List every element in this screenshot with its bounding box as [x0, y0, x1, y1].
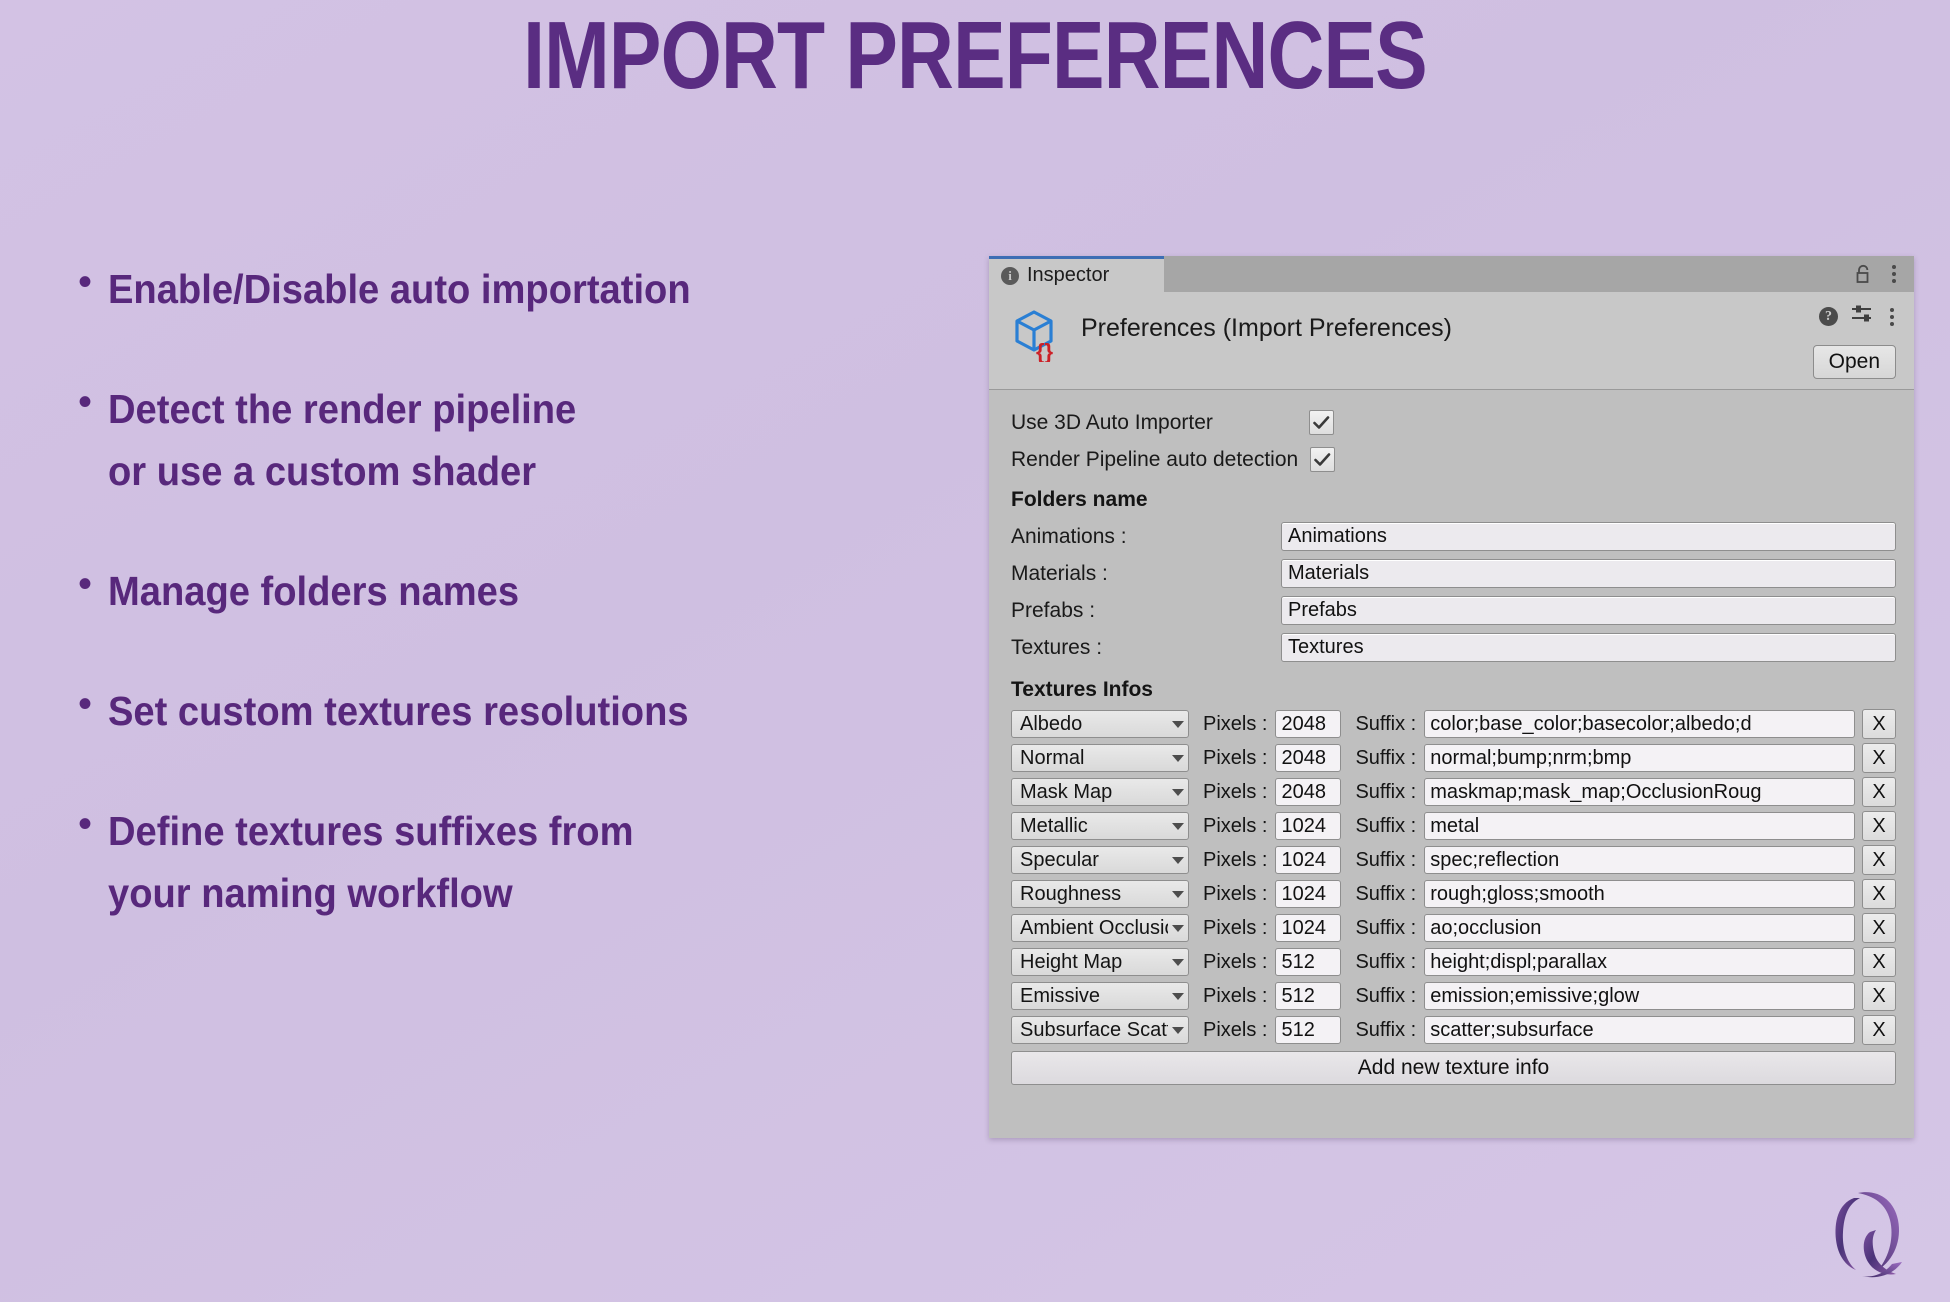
- tab-bar-actions: [1855, 256, 1914, 292]
- suffix-label: Suffix :: [1341, 1019, 1424, 1042]
- texture-type-label: Specular: [1020, 849, 1168, 872]
- pixels-label: Pixels :: [1189, 883, 1275, 906]
- kebab-menu-icon[interactable]: [1888, 263, 1900, 285]
- toggle-row-use-3d-auto-importer: Use 3D Auto Importer: [1011, 404, 1896, 441]
- suffix-label: Suffix :: [1341, 781, 1424, 804]
- bullet-text: Define textures suffixes from your namin…: [108, 800, 634, 924]
- pixels-label: Pixels :: [1189, 849, 1275, 872]
- bullet-text: Manage folders names: [108, 560, 519, 622]
- animations-folder-input[interactable]: Animations: [1281, 522, 1896, 551]
- texture-info-row: SpecularPixels :1024Suffix :spec;reflect…: [1011, 844, 1896, 876]
- pixels-label: Pixels :: [1189, 1019, 1275, 1042]
- toggle-label: Render Pipeline auto detection: [1011, 448, 1298, 472]
- texture-type-dropdown[interactable]: Ambient Occlusion: [1011, 914, 1189, 942]
- lock-icon[interactable]: [1855, 264, 1872, 284]
- tab-label: Inspector: [1027, 264, 1109, 287]
- texture-info-row: Height MapPixels :512Suffix :height;disp…: [1011, 946, 1896, 978]
- bullet-list: • Enable/Disable auto importation • Dete…: [78, 258, 958, 982]
- page-title: IMPORT PREFERENCES: [176, 6, 1775, 107]
- suffix-label: Suffix :: [1341, 815, 1424, 838]
- bullet-dot-icon: •: [78, 256, 92, 308]
- pixels-label: Pixels :: [1189, 713, 1275, 736]
- pixels-input[interactable]: 512: [1275, 982, 1341, 1010]
- use-3d-auto-importer-checkbox[interactable]: [1309, 410, 1334, 435]
- texture-type-label: Emissive: [1020, 985, 1168, 1008]
- texture-type-dropdown[interactable]: Emissive: [1011, 982, 1189, 1010]
- bullet-text: Set custom textures resolutions: [108, 680, 689, 742]
- bullet-text: Detect the render pipeline or use a cust…: [108, 378, 576, 502]
- add-new-texture-info-button[interactable]: Add new texture info: [1011, 1051, 1896, 1085]
- scriptable-object-icon: {}: [1009, 306, 1063, 362]
- toggle-label: Use 3D Auto Importer: [1011, 411, 1213, 435]
- texture-info-row: Ambient OcclusionPixels :1024Suffix :ao;…: [1011, 912, 1896, 944]
- pixels-input[interactable]: 1024: [1275, 812, 1341, 840]
- suffix-input[interactable]: metal: [1424, 812, 1855, 840]
- pixels-input[interactable]: 512: [1275, 1016, 1341, 1044]
- inspector-tab-bar: i Inspector: [989, 256, 1914, 292]
- remove-texture-info-button[interactable]: X: [1862, 947, 1896, 977]
- pixels-input[interactable]: 2048: [1275, 744, 1341, 772]
- pixels-label: Pixels :: [1189, 747, 1275, 770]
- suffix-label: Suffix :: [1341, 883, 1424, 906]
- suffix-input[interactable]: scatter;subsurface: [1424, 1016, 1855, 1044]
- texture-info-row: NormalPixels :2048Suffix :normal;bump;nr…: [1011, 742, 1896, 774]
- texture-type-dropdown[interactable]: Albedo: [1011, 710, 1189, 738]
- info-icon: i: [1001, 267, 1019, 285]
- chevron-down-icon: [1172, 789, 1184, 796]
- chevron-down-icon: [1172, 925, 1184, 932]
- pixels-input[interactable]: 1024: [1275, 846, 1341, 874]
- suffix-label: Suffix :: [1341, 951, 1424, 974]
- textures-infos-heading: Textures Infos: [1011, 678, 1896, 702]
- texture-type-dropdown[interactable]: Subsurface Scattering: [1011, 1016, 1189, 1044]
- pixels-input[interactable]: 2048: [1275, 710, 1341, 738]
- pixels-input[interactable]: 512: [1275, 948, 1341, 976]
- list-item: • Enable/Disable auto importation: [78, 258, 958, 320]
- field-label: Animations :: [1011, 525, 1281, 549]
- suffix-input[interactable]: rough;gloss;smooth: [1424, 880, 1855, 908]
- field-label: Prefabs :: [1011, 599, 1281, 623]
- suffix-input[interactable]: color;base_color;basecolor;albedo;d: [1424, 710, 1855, 738]
- texture-type-label: Mask Map: [1020, 781, 1168, 804]
- materials-folder-input[interactable]: Materials: [1281, 559, 1896, 588]
- suffix-label: Suffix :: [1341, 917, 1424, 940]
- remove-texture-info-button[interactable]: X: [1862, 811, 1896, 841]
- help-icon[interactable]: ?: [1819, 307, 1838, 326]
- suffix-input[interactable]: emission;emissive;glow: [1424, 982, 1855, 1010]
- list-item: • Manage folders names: [78, 560, 958, 622]
- list-item: • Set custom textures resolutions: [78, 680, 958, 742]
- texture-type-label: Albedo: [1020, 713, 1168, 736]
- texture-type-label: Height Map: [1020, 951, 1168, 974]
- suffix-input[interactable]: maskmap;mask_map;OcclusionRoug: [1424, 778, 1855, 806]
- texture-type-dropdown[interactable]: Roughness: [1011, 880, 1189, 908]
- inspector-body: Use 3D Auto Importer Render Pipeline aut…: [989, 390, 1914, 1085]
- texture-type-dropdown[interactable]: Metallic: [1011, 812, 1189, 840]
- folder-row-materials: Materials : Materials: [1011, 555, 1896, 592]
- chevron-down-icon: [1172, 721, 1184, 728]
- chevron-down-icon: [1172, 823, 1184, 830]
- texture-type-dropdown[interactable]: Specular: [1011, 846, 1189, 874]
- remove-texture-info-button[interactable]: X: [1862, 845, 1896, 875]
- tab-inspector[interactable]: i Inspector: [989, 256, 1164, 292]
- pixels-label: Pixels :: [1189, 781, 1275, 804]
- render-pipeline-auto-detection-checkbox[interactable]: [1310, 447, 1335, 472]
- texture-info-row: EmissivePixels :512Suffix :emission;emis…: [1011, 980, 1896, 1012]
- field-label: Textures :: [1011, 636, 1281, 660]
- pixels-label: Pixels :: [1189, 985, 1275, 1008]
- chevron-down-icon: [1172, 1027, 1184, 1034]
- folder-row-prefabs: Prefabs : Prefabs: [1011, 592, 1896, 629]
- list-item: • Define textures suffixes from your nam…: [78, 800, 958, 924]
- toggle-row-render-pipeline-auto-detection: Render Pipeline auto detection: [1011, 441, 1896, 478]
- pixels-label: Pixels :: [1189, 951, 1275, 974]
- chevron-down-icon: [1172, 959, 1184, 966]
- remove-texture-info-button[interactable]: X: [1862, 913, 1896, 943]
- texture-info-row: MetallicPixels :1024Suffix :metalX: [1011, 810, 1896, 842]
- suffix-label: Suffix :: [1341, 985, 1424, 1008]
- chevron-down-icon: [1172, 891, 1184, 898]
- texture-type-label: Ambient Occlusion: [1020, 917, 1168, 940]
- remove-texture-info-button[interactable]: X: [1862, 1015, 1896, 1045]
- remove-texture-info-button[interactable]: X: [1862, 709, 1896, 739]
- list-item: • Detect the render pipeline or use a cu…: [78, 378, 958, 502]
- bullet-dot-icon: •: [78, 798, 92, 850]
- object-header-actions: ?: [1819, 304, 1898, 329]
- bullet-text: Enable/Disable auto importation: [108, 258, 691, 320]
- texture-type-label: Subsurface Scattering: [1020, 1019, 1168, 1042]
- bullet-dot-icon: •: [78, 376, 92, 428]
- q-logo-watermark: [1808, 1170, 1928, 1290]
- chevron-down-icon: [1172, 857, 1184, 864]
- suffix-input[interactable]: normal;bump;nrm;bmp: [1424, 744, 1855, 772]
- textures-folder-input[interactable]: Textures: [1281, 633, 1896, 662]
- remove-texture-info-button[interactable]: X: [1862, 743, 1896, 773]
- chevron-down-icon: [1172, 755, 1184, 762]
- folders-name-heading: Folders name: [1011, 488, 1896, 512]
- pixels-label: Pixels :: [1189, 917, 1275, 940]
- texture-type-dropdown[interactable]: Height Map: [1011, 948, 1189, 976]
- object-header: {} Preferences (Import Preferences) ? Op…: [989, 292, 1914, 390]
- texture-info-row: Mask MapPixels :2048Suffix :maskmap;mask…: [1011, 776, 1896, 808]
- texture-info-row: Subsurface ScatteringPixels :512Suffix :…: [1011, 1014, 1896, 1046]
- suffix-input[interactable]: spec;reflection: [1424, 846, 1855, 874]
- texture-info-row: RoughnessPixels :1024Suffix :rough;gloss…: [1011, 878, 1896, 910]
- svg-text:{}: {}: [1036, 339, 1054, 362]
- pixels-label: Pixels :: [1189, 815, 1275, 838]
- texture-type-dropdown[interactable]: Normal: [1011, 744, 1189, 772]
- texture-type-dropdown[interactable]: Mask Map: [1011, 778, 1189, 806]
- pixels-input[interactable]: 1024: [1275, 914, 1341, 942]
- remove-texture-info-button[interactable]: X: [1862, 879, 1896, 909]
- kebab-menu-icon[interactable]: [1886, 306, 1898, 328]
- object-title: Preferences (Import Preferences): [1081, 306, 1452, 343]
- bullet-dot-icon: •: [78, 558, 92, 610]
- pixels-input[interactable]: 1024: [1275, 880, 1341, 908]
- texture-info-row: AlbedoPixels :2048Suffix :color;base_col…: [1011, 708, 1896, 740]
- remove-texture-info-button[interactable]: X: [1862, 777, 1896, 807]
- prefabs-folder-input[interactable]: Prefabs: [1281, 596, 1896, 625]
- open-button[interactable]: Open: [1813, 345, 1896, 379]
- textures-info-list: AlbedoPixels :2048Suffix :color;base_col…: [1011, 708, 1896, 1046]
- field-label: Materials :: [1011, 562, 1281, 586]
- texture-type-label: Normal: [1020, 747, 1168, 770]
- suffix-label: Suffix :: [1341, 849, 1424, 872]
- suffix-label: Suffix :: [1341, 713, 1424, 736]
- bullet-dot-icon: •: [78, 678, 92, 730]
- suffix-label: Suffix :: [1341, 747, 1424, 770]
- preset-settings-icon[interactable]: [1851, 304, 1873, 329]
- folder-row-textures: Textures : Textures: [1011, 629, 1896, 666]
- pixels-input[interactable]: 2048: [1275, 778, 1341, 806]
- texture-type-label: Metallic: [1020, 815, 1168, 838]
- suffix-input[interactable]: ao;occlusion: [1424, 914, 1855, 942]
- remove-texture-info-button[interactable]: X: [1862, 981, 1896, 1011]
- texture-type-label: Roughness: [1020, 883, 1168, 906]
- suffix-input[interactable]: height;displ;parallax: [1424, 948, 1855, 976]
- chevron-down-icon: [1172, 993, 1184, 1000]
- inspector-panel: i Inspector {}: [989, 256, 1914, 1138]
- folder-row-animations: Animations : Animations: [1011, 518, 1896, 555]
